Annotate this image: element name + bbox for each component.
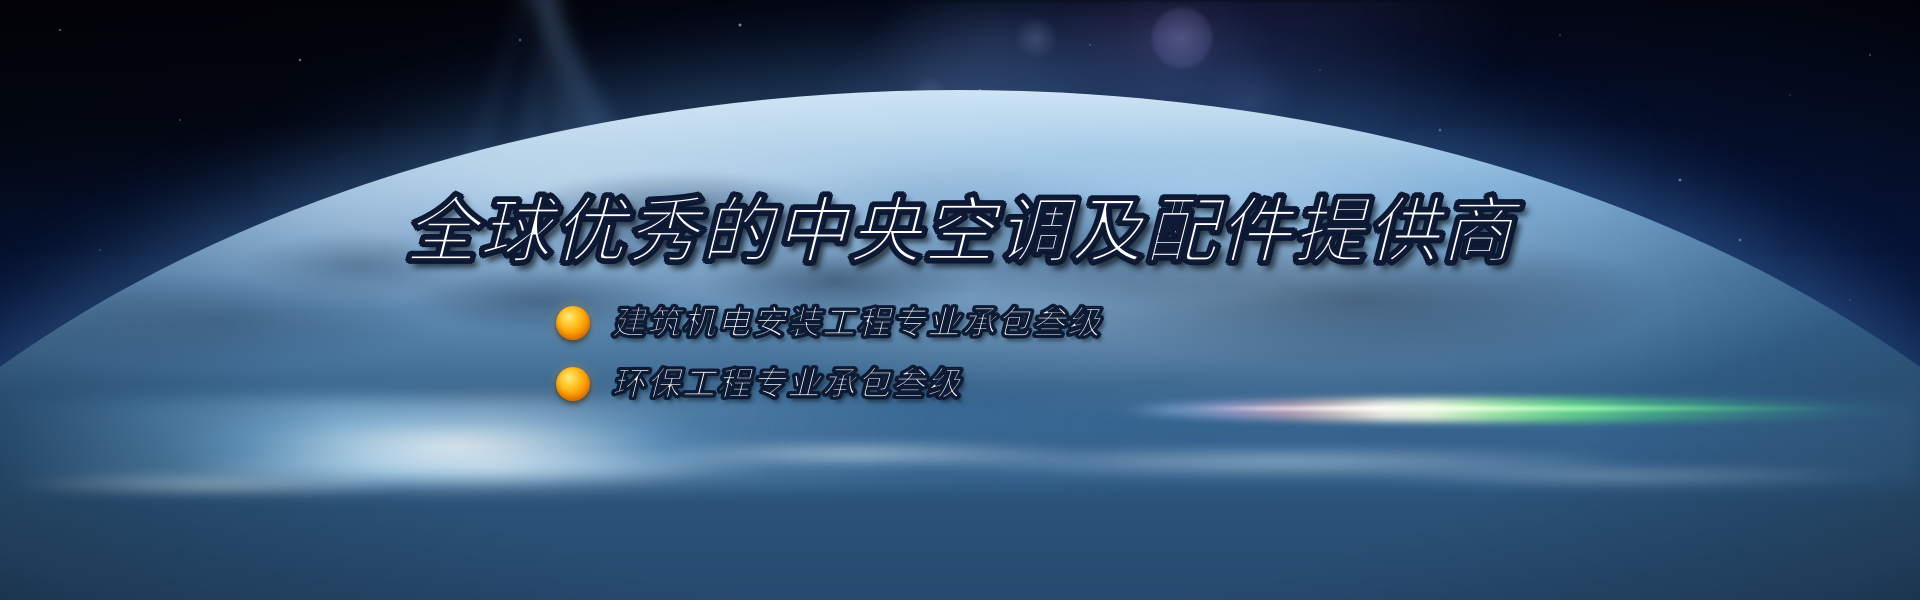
orange-dot-bullet-icon	[556, 306, 590, 340]
banner-headline: 全球优秀的中央空调及配件提供商	[0, 196, 1920, 268]
hero-banner: 全球优秀的中央空调及配件提供商 建筑机电安装工程专业承包叁级 环保工程专业承包叁…	[0, 0, 1920, 600]
bullet-item: 建筑机电安装工程专业承包叁级	[556, 306, 1102, 341]
banner-bullet-list: 建筑机电安装工程专业承包叁级 环保工程专业承包叁级	[556, 306, 1102, 401]
bullet-item-label: 环保工程专业承包叁级	[612, 367, 962, 402]
banner-content: 全球优秀的中央空调及配件提供商 建筑机电安装工程专业承包叁级 环保工程专业承包叁…	[0, 0, 1920, 600]
orange-dot-bullet-icon	[556, 367, 590, 401]
bullet-item-label: 建筑机电安装工程专业承包叁级	[612, 306, 1102, 341]
bullet-item: 环保工程专业承包叁级	[556, 367, 1102, 402]
